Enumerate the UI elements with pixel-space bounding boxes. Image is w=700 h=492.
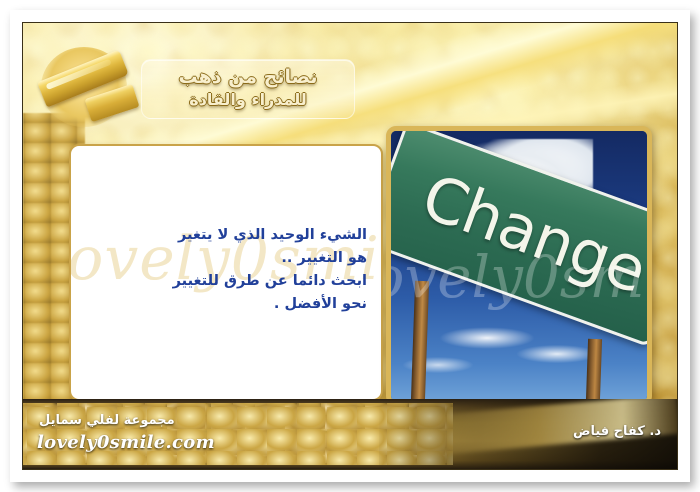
quote-line-4: نحو الأفضل . bbox=[85, 293, 367, 316]
sign-post-right bbox=[586, 339, 602, 401]
quote-card: lovely0smile.com الشيء الوحيد الذي لا يت… bbox=[69, 144, 383, 401]
header-title-plate: نصائح من ذهب للمدراء والقادة bbox=[141, 59, 355, 119]
outer-white-frame: نصائح من ذهب للمدراء والقادة lovely0smil… bbox=[0, 0, 700, 492]
change-road-sign-photo: Change lovely0smile.com bbox=[386, 126, 652, 406]
gold-bars-icon bbox=[35, 43, 145, 131]
poster-canvas: نصائح من ذهب للمدراء والقادة lovely0smil… bbox=[22, 22, 678, 470]
quote-line-1: الشيء الوحيد الذي لا يتغير bbox=[85, 224, 367, 247]
header-title-line-1: نصائح من ذهب bbox=[142, 66, 354, 88]
poster-header: نصائح من ذهب للمدراء والقادة bbox=[23, 23, 678, 141]
header-title-line-2: للمدراء والقادة bbox=[142, 90, 354, 109]
author-name-label: د. كفاح فياض bbox=[573, 424, 661, 439]
quote-text-block: الشيء الوحيد الذي لا يتغير هو التغيير ..… bbox=[85, 224, 367, 316]
poster-footer: مجموعة لفلي سمايل lovely0smile.com د. كف… bbox=[23, 399, 678, 469]
brand-url-label[interactable]: lovely0smile.com bbox=[37, 432, 215, 453]
brand-arabic-label: مجموعة لفلي سمايل bbox=[39, 413, 175, 428]
quote-line-2: هو التغيير .. bbox=[85, 247, 367, 270]
cloud-lower-b bbox=[517, 345, 597, 363]
quote-line-3: ابحث دائما عن طرق للتغيير bbox=[85, 270, 367, 293]
